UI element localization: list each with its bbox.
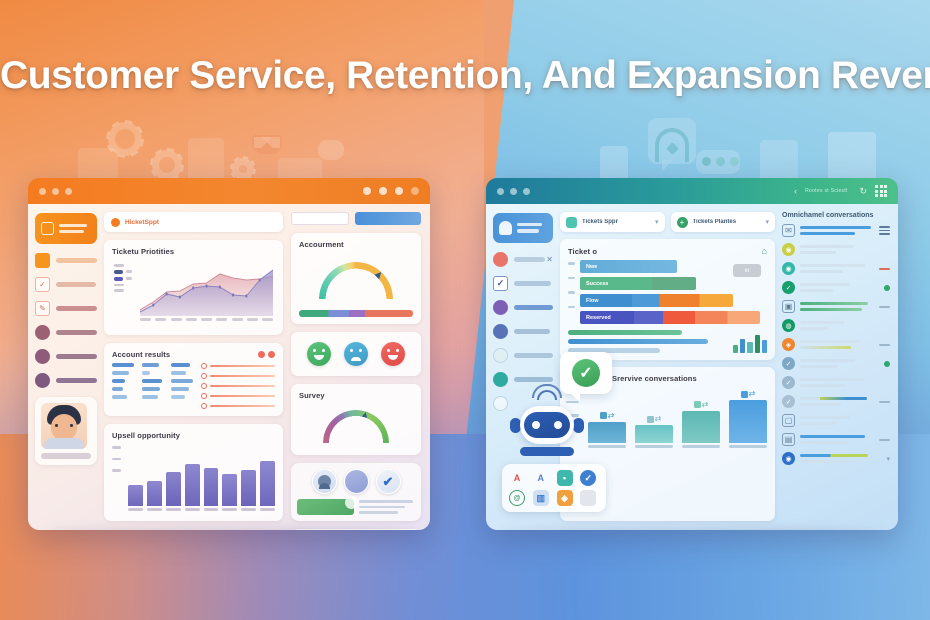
chart-x-axis — [140, 318, 273, 328]
sidebar-item-3[interactable] — [493, 324, 553, 339]
home-icon — [499, 221, 512, 235]
search-app-label: HicketSppt — [125, 219, 159, 226]
card-title: Ticketu Priotities — [112, 247, 275, 256]
chart-x-labels — [112, 508, 275, 511]
list-item[interactable]: ✓ — [782, 281, 890, 294]
bar — [147, 481, 162, 506]
back-chevron-icon[interactable]: ‹ — [794, 186, 797, 196]
chat-icon: ◉ — [782, 262, 795, 275]
user-icon: ◍ — [782, 319, 795, 332]
chart-plot — [140, 262, 273, 316]
square-orange-icon — [35, 253, 50, 268]
account-results-card: Account results — [104, 343, 283, 416]
bar: Flow — [580, 294, 733, 307]
robot-icon[interactable] — [514, 398, 580, 456]
edit-icon: ✎ — [35, 301, 50, 316]
list-item[interactable]: ✓ — [782, 376, 890, 389]
checkbox-icon: ✓ — [35, 277, 50, 292]
bar — [682, 411, 720, 443]
sidebar-item-2[interactable] — [493, 300, 553, 315]
burger-menu-icon[interactable] — [879, 226, 890, 235]
omnichannel-panel: Omnichamel conversations ✉ ◉ ◉ — [782, 212, 890, 521]
bar — [635, 425, 673, 443]
flow-icon: ⇄ — [647, 415, 662, 423]
list-item — [201, 363, 275, 369]
window-traffic-lights[interactable] — [39, 188, 72, 195]
toolbar-row — [291, 212, 421, 225]
upsell-opportunity-left-card: Upsell opportunity — [104, 424, 283, 521]
sidebar-item-4[interactable] — [35, 349, 97, 364]
bar: Reserved — [580, 311, 760, 324]
profile-actions-card: ✔ — [291, 463, 421, 521]
happy-face-icon[interactable] — [307, 342, 331, 366]
mini-bar-chart — [733, 333, 767, 353]
chevron-down-icon[interactable]: ▾ — [765, 218, 769, 226]
grid-menu-icon[interactable] — [875, 185, 887, 197]
survey-gauge — [299, 404, 413, 448]
list-item[interactable]: ◉ — [782, 243, 890, 256]
tab-label: Tickets Plantes — [693, 219, 761, 225]
A-red-icon[interactable]: A — [509, 470, 525, 486]
shield-icon — [41, 222, 54, 235]
person-icon[interactable] — [312, 469, 337, 494]
results-progress-list — [201, 363, 275, 409]
sidebar-item-5[interactable] — [35, 373, 97, 388]
list-item[interactable]: ✓ — [782, 357, 890, 370]
sidebar-hero-item[interactable] — [35, 213, 97, 244]
ticket-summary-lines — [568, 330, 767, 353]
shield-icon: ✓ — [782, 376, 795, 389]
satisfaction-card — [291, 332, 421, 376]
filter-icon[interactable]: ⌂ — [762, 246, 767, 256]
sidebar-item-0[interactable] — [35, 253, 97, 268]
left-window-body: ✓ ✎ — [28, 204, 430, 530]
envelope-icon — [252, 135, 282, 154]
flow-icon: ⇄ — [694, 401, 709, 409]
list-item[interactable]: ◍ — [782, 319, 890, 332]
blank-icon[interactable] — [580, 490, 596, 506]
chevron-down-icon[interactable]: ▾ — [886, 455, 890, 463]
chat-dot — [730, 157, 739, 166]
at-green-icon[interactable]: @ — [509, 490, 525, 506]
ticket-card: Ticket o ⌂ Nwe Success Flow Reserved — [560, 239, 775, 360]
titlebar-label: Rootes xt Sciestl — [805, 188, 847, 194]
left-dashboard-window: ✓ ✎ — [28, 178, 430, 530]
gauge-hub — [350, 436, 363, 449]
list-item[interactable]: ▢ — [782, 414, 890, 427]
table-column — [112, 363, 137, 409]
lock-blue-icon[interactable]: ▥ — [533, 490, 549, 506]
square-teal-icon[interactable]: ▪ — [557, 470, 573, 486]
tab-label: Tickets Sppr — [582, 219, 650, 225]
gauge-hub — [350, 292, 363, 305]
flow-icon: ⇄ — [741, 390, 756, 398]
ticket-priorities-chart — [112, 260, 275, 328]
status-dot — [884, 285, 890, 291]
bar — [260, 461, 275, 506]
status-badge: kt — [733, 264, 761, 277]
app-logo-icon — [111, 218, 120, 227]
avatar-card — [35, 397, 97, 465]
card-title: Upsell opportunity — [112, 431, 275, 440]
card-title: Survey — [299, 391, 413, 400]
image-icon: ▤ — [782, 433, 795, 446]
filter-input[interactable] — [291, 212, 349, 225]
bar — [729, 400, 767, 443]
circle-icon — [493, 300, 508, 315]
speech-bubble-shape — [648, 118, 696, 164]
ticket-icon — [566, 217, 577, 228]
sidebar-hero-item[interactable] — [493, 213, 553, 243]
bubble-tail — [662, 160, 672, 172]
ticket-status-bars: Nwe Success Flow Reserved kt — [568, 260, 767, 324]
sidebar-item-0[interactable]: ✕ — [493, 252, 553, 267]
briefcase-icon: ▣ — [782, 300, 795, 313]
bar-group: ⇄ — [635, 387, 673, 443]
avatar-name-placeholder — [41, 453, 91, 459]
tab-row: Tickets Sppr ▾ + Tickets Plantes ▾ — [560, 212, 775, 232]
robot-base — [520, 447, 574, 456]
sidebar-item-1[interactable]: ✓ — [35, 277, 97, 292]
search-row: HicketSppt — [104, 212, 283, 232]
right-window-titlebar: ‹ Rootes xt Sciestl ↻ — [486, 178, 898, 204]
sidebar-item-2[interactable]: ✎ — [35, 301, 97, 316]
window-controls[interactable]: ‹ Rootes xt Sciestl ↻ — [794, 185, 887, 197]
speech-bubble-shape — [696, 150, 740, 174]
list-item — [201, 403, 275, 409]
survey-card: Survey — [291, 384, 421, 455]
checkbox-icon: ✓ — [493, 276, 508, 291]
tab-tickets-plantes[interactable]: + Tickets Plantes ▾ — [671, 212, 776, 232]
upsell-left-bars — [112, 444, 275, 506]
bar — [241, 470, 256, 506]
chart-legend — [114, 264, 132, 292]
list-item[interactable]: ✉ — [782, 224, 890, 237]
robot-eyes — [532, 421, 562, 429]
list-item[interactable]: ▣ — [782, 300, 890, 313]
speech-bubble-shape — [318, 140, 344, 160]
page-title: Customer Service, Retention, And Expansi… — [0, 54, 930, 98]
list-item — [201, 373, 275, 379]
robot-ear-right — [573, 418, 584, 433]
circle-icon — [35, 325, 50, 340]
window-controls[interactable] — [363, 187, 419, 195]
status-dot — [884, 361, 890, 367]
card-title: Ticket o — [568, 247, 597, 256]
check-badge-icon[interactable]: ✔ — [376, 469, 401, 494]
table-column — [142, 363, 167, 409]
gauge-arc — [323, 410, 389, 443]
status-badges — [258, 351, 275, 358]
list-item[interactable]: ◉ — [782, 262, 890, 275]
close-icon[interactable]: ✕ — [546, 255, 553, 264]
primary-action-button[interactable] — [355, 212, 421, 225]
circle-icon — [35, 349, 50, 364]
bar-group: ⇄ — [729, 387, 767, 443]
profile-detail-row — [297, 499, 415, 515]
angry-face-icon[interactable] — [381, 342, 405, 366]
sidebar-item-3[interactable] — [35, 325, 97, 340]
left-window-titlebar — [28, 178, 430, 204]
bar — [204, 468, 219, 506]
ticket-priorities-card: Ticketu Priotities — [104, 240, 283, 335]
blank-circle-icon[interactable] — [344, 469, 369, 494]
money-icon — [297, 499, 354, 515]
sad-face-icon[interactable] — [344, 342, 368, 366]
chevron-down-icon[interactable]: ▾ — [655, 218, 659, 226]
tab-tickets-sppr[interactable]: Tickets Sppr ▾ — [560, 212, 665, 232]
chart-y-ticks — [568, 262, 575, 308]
check-icon: ✓ — [782, 281, 795, 294]
bar — [185, 464, 200, 506]
bar — [128, 485, 143, 506]
plus-circle-icon: + — [677, 217, 688, 228]
card-title: Account results — [112, 350, 170, 359]
results-table — [112, 363, 275, 409]
chatbot-overlay: ✓ A A ▪ ✓ @ ▥ ◈ — [502, 352, 612, 512]
list-item[interactable]: ◈ — [782, 338, 890, 351]
list-item[interactable]: ✓ — [782, 395, 890, 408]
circle-icon — [35, 373, 50, 388]
mail-icon: ✉ — [782, 224, 795, 237]
list-item[interactable]: ▤ — [782, 433, 890, 446]
upsell-opportunity-right-card: Upsell Opportunity — [291, 529, 421, 530]
emoji-row — [299, 339, 413, 369]
window-traffic-lights[interactable] — [497, 188, 530, 195]
file-icon: ▢ — [782, 414, 795, 427]
circle-icon — [493, 252, 508, 267]
circle-icon — [493, 324, 508, 339]
panel-title: Omnichamel conversations — [782, 212, 890, 219]
A-blue-icon[interactable]: A — [533, 470, 549, 486]
bell-icon: ◈ — [782, 338, 795, 351]
lightbulb-icon: ◉ — [782, 243, 795, 256]
chart-y-axis — [112, 446, 121, 472]
gauge-legend-bar — [299, 310, 413, 317]
list-item — [201, 393, 275, 399]
avatar — [41, 403, 87, 449]
sidebar-item-1[interactable]: ✓ — [493, 276, 553, 291]
list-item — [201, 383, 275, 389]
chat-dot — [716, 157, 725, 166]
refresh-icon[interactable]: ↻ — [859, 186, 867, 197]
bar: Nwe — [580, 260, 677, 273]
bar-group: ⇄ — [682, 387, 720, 443]
card-title: Accourment — [299, 240, 413, 249]
gear-icon — [152, 150, 182, 180]
left-sidebar: ✓ ✎ — [28, 204, 104, 530]
list-item[interactable]: ◉ ▾ — [782, 452, 890, 465]
bot-status-bubble: ✓ — [560, 352, 612, 394]
gear-icon — [232, 158, 254, 180]
gauge-arc — [319, 262, 393, 299]
account-gauge — [299, 253, 413, 307]
chat-dot — [702, 157, 711, 166]
shield-icon: ✓ — [782, 357, 795, 370]
bot-icon-tray: A A ▪ ✓ @ ▥ ◈ — [502, 464, 606, 512]
success-check-icon: ✓ — [572, 359, 600, 387]
bell-orange-icon[interactable]: ◈ — [557, 490, 573, 506]
account-gauge-card: Accourment — [291, 233, 421, 324]
shield-icon: ✓ — [782, 395, 795, 408]
bar: Success — [580, 277, 696, 290]
check-blue-icon[interactable]: ✓ — [580, 470, 596, 486]
globe-icon: ◉ — [782, 452, 795, 465]
table-column — [171, 363, 196, 409]
left-main-content: HicketSppt Ticketu Priotities — [104, 204, 430, 530]
bar — [166, 472, 181, 506]
search-input[interactable]: HicketSppt — [104, 212, 283, 232]
bar — [222, 474, 237, 506]
profile-icon-row: ✔ — [297, 469, 415, 494]
